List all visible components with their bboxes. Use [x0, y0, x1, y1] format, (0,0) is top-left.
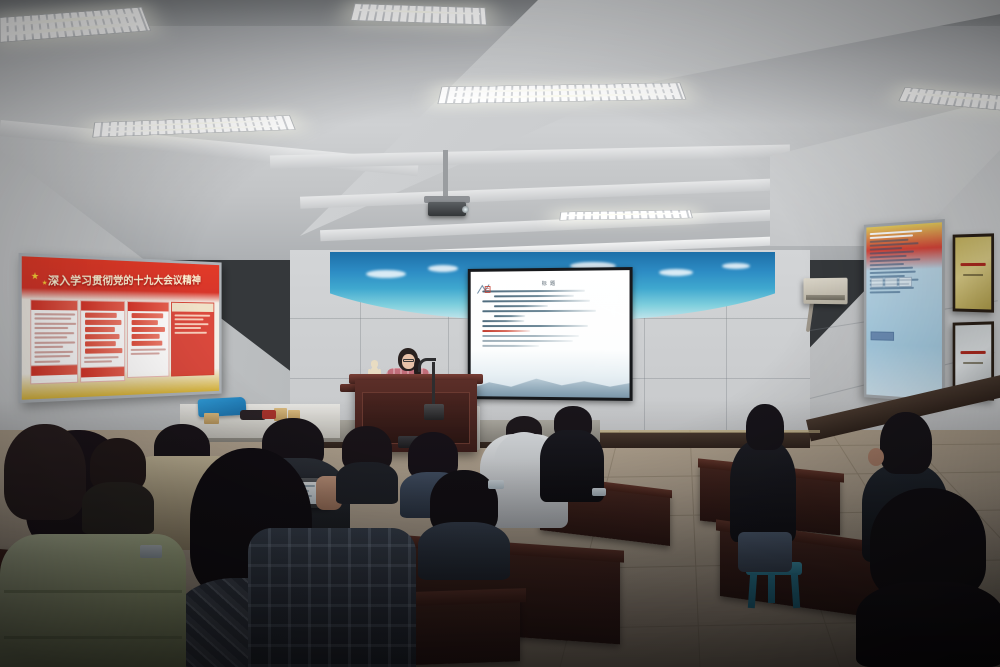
slide-line-highlight — [482, 330, 530, 332]
slide-line — [482, 300, 590, 303]
board-title: 深入学习贯彻党的十九大会议精神 — [48, 272, 208, 293]
wall-air-conditioner — [803, 278, 847, 305]
attendee-hand — [868, 448, 884, 466]
projector-lens-icon — [462, 206, 469, 213]
slide-line — [482, 335, 579, 337]
meeting-room-photo: 标 题 ★ ★ 深入学习贯彻党的十九大会议精神 — [0, 0, 1000, 667]
attendee-on-blue-stool — [730, 404, 796, 572]
slide-line — [482, 345, 538, 347]
projection-screen[interactable]: 标 题 — [468, 267, 633, 401]
phone-screen-glow — [140, 545, 162, 558]
cardboard-box-1 — [204, 413, 219, 424]
phone-screen-glow — [592, 488, 606, 496]
ceiling-projector — [428, 202, 466, 216]
gold-award-plaque — [953, 233, 994, 312]
puffer-seam — [4, 636, 182, 639]
microphone-base — [424, 404, 444, 420]
slide-mountain-graphic — [471, 370, 630, 397]
glasses-icon — [403, 359, 414, 362]
microphone-stand — [432, 362, 435, 408]
slide-line — [482, 340, 573, 342]
board-sub-panel — [31, 364, 78, 384]
attendee-back-row-1 — [336, 426, 398, 504]
seal-stamp-icon — [476, 282, 492, 300]
slide-line — [494, 305, 548, 307]
slide-line — [482, 310, 596, 312]
workflow-info-board[interactable] — [864, 219, 945, 403]
attendee-plaid-coat — [248, 528, 416, 667]
board-column — [127, 301, 169, 378]
attendee-right-foreground — [856, 488, 1000, 667]
slide-line — [494, 315, 525, 317]
slide-line — [482, 290, 584, 293]
board-column — [171, 302, 214, 377]
slide-line — [482, 325, 587, 327]
board-sub-panel — [80, 366, 125, 383]
attendee-back-row-4 — [82, 438, 154, 534]
slide-line — [482, 320, 524, 322]
phone-screen-glow — [488, 480, 504, 489]
slide-line — [494, 295, 574, 298]
attendee-jeans — [738, 532, 792, 572]
party-propaganda-board[interactable]: ★ ★ 深入学习贯彻党的十九大会议精神 — [19, 253, 222, 403]
puffer-seam — [4, 590, 182, 593]
slide-title: 标 题 — [478, 279, 621, 287]
slide-content: 标 题 — [471, 270, 630, 398]
